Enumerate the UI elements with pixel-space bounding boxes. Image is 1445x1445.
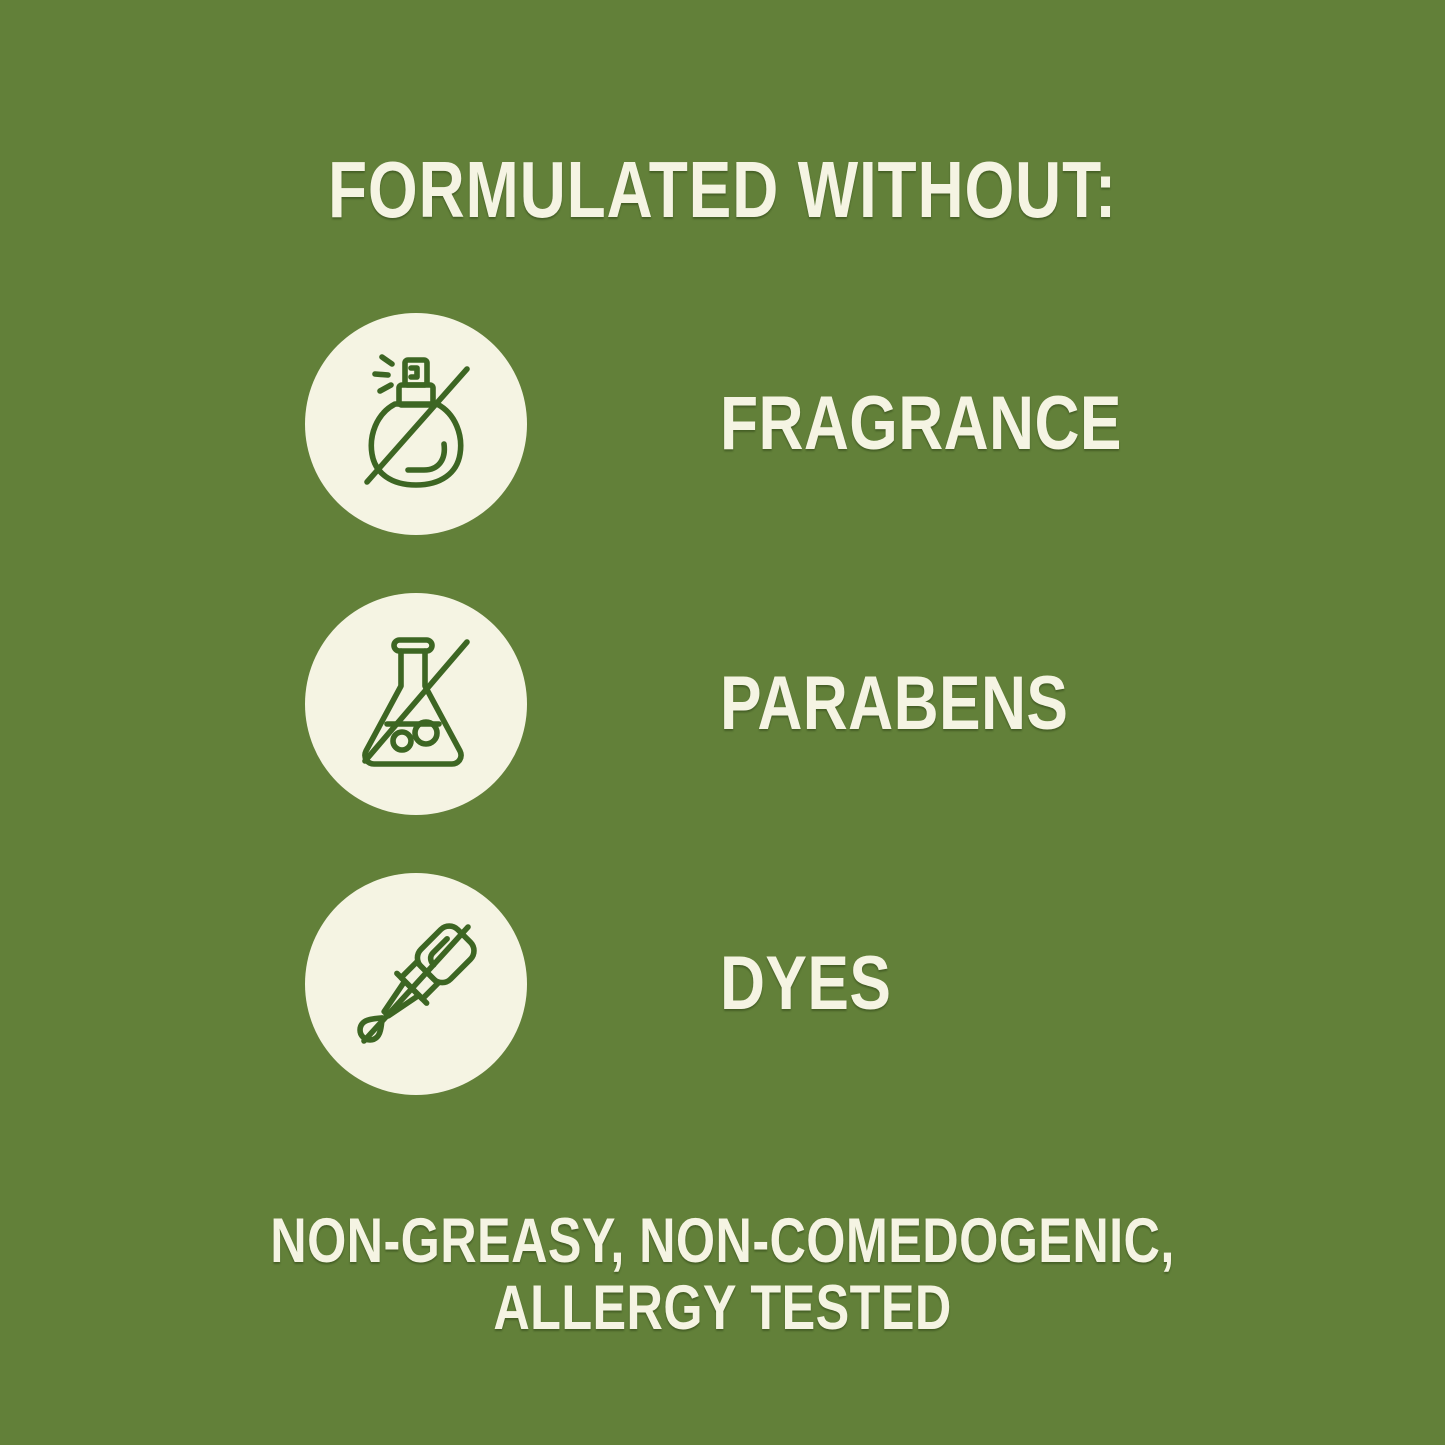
page-title: FORMULATED WITHOUT: xyxy=(145,150,1301,230)
claim-label-fragrance: FRAGRANCE xyxy=(720,386,1122,462)
footer-claim-line-1: NON-GREASY, NON-COMEDOGENIC, xyxy=(145,1208,1301,1275)
no-parabens-badge xyxy=(305,593,527,815)
claim-row-parabens: PARABENS xyxy=(305,593,1305,815)
claim-label-parabens: PARABENS xyxy=(720,666,1068,742)
no-parabens-flask-icon xyxy=(340,628,492,780)
no-dyes-dropper-icon xyxy=(340,908,492,1060)
no-fragrance-badge xyxy=(305,313,527,535)
formulated-without-panel: FORMULATED WITHOUT: xyxy=(0,0,1445,1445)
no-dyes-badge xyxy=(305,873,527,1095)
claims-list: FRAGRANCE xyxy=(305,313,1305,1153)
claim-row-dyes: DYES xyxy=(305,873,1305,1095)
no-fragrance-spray-bottle-icon xyxy=(340,348,492,500)
claim-row-fragrance: FRAGRANCE xyxy=(305,313,1305,535)
claim-label-dyes: DYES xyxy=(720,946,891,1022)
footer-claim-line-2: ALLERGY TESTED xyxy=(145,1275,1301,1342)
footer-claim: NON-GREASY, NON-COMEDOGENIC, ALLERGY TES… xyxy=(0,1208,1445,1342)
